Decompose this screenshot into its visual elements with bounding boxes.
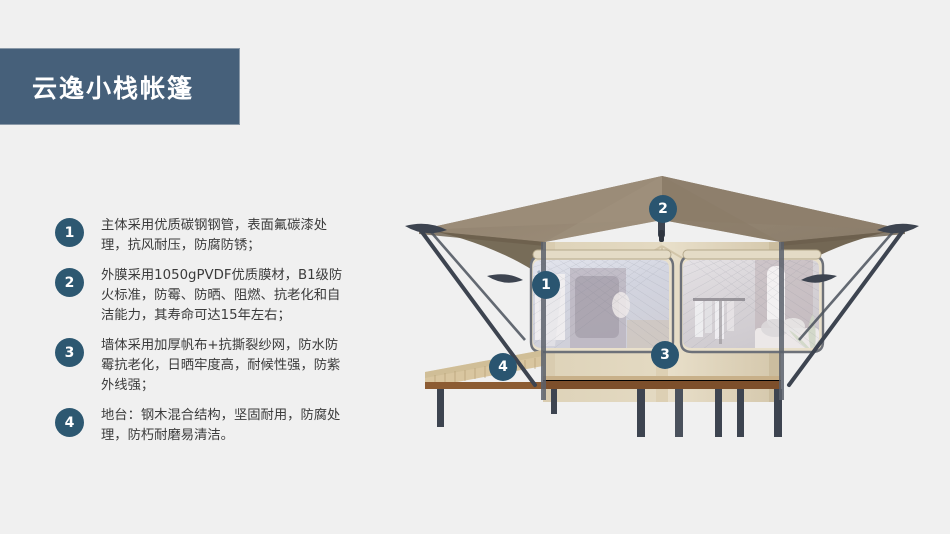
list-item: 3 墙体采用加厚帆布+抗撕裂纱网，防水防霉抗老化，日晒牢度高，耐候性强，防紫外线… — [55, 336, 355, 396]
callout-badge-1: 1 — [532, 271, 560, 299]
list-item: 2 外膜采用1050gPVDF优质膜材，B1级防火标准，防霉、防晒、阻燃、抗老化… — [55, 266, 355, 326]
callout-badge-2: 2 — [649, 195, 677, 223]
slide-canvas: 云逸小栈帐篷 1 主体采用优质碳钢钢管，表面氟碳漆处理，抗风耐压，防腐防锈； 2… — [0, 0, 950, 534]
feature-text-3: 墙体采用加厚帆布+抗撕裂纱网，防水防霉抗老化，日晒牢度高，耐候性强，防紫外线强； — [101, 336, 346, 396]
feature-badge-3: 3 — [55, 338, 84, 367]
feature-badge-2: 2 — [55, 268, 84, 297]
tent-illustration — [375, 150, 950, 440]
page-title: 云逸小栈帐篷 — [32, 69, 194, 105]
feature-text-2: 外膜采用1050gPVDF优质膜材，B1级防火标准，防霉、防晒、阻燃、抗老化和自… — [101, 266, 346, 326]
feature-text-1: 主体采用优质碳钢钢管，表面氟碳漆处理，抗风耐压，防腐防锈； — [101, 216, 346, 256]
feature-badge-1: 1 — [55, 218, 84, 247]
feature-badge-4: 4 — [55, 408, 84, 437]
callout-badge-4: 4 — [489, 353, 517, 381]
feature-text-4: 地台：钢木混合结构，坚固耐用，防腐处理，防朽耐磨易清洁。 — [101, 406, 346, 446]
list-item: 1 主体采用优质碳钢钢管，表面氟碳漆处理，抗风耐压，防腐防锈； — [55, 216, 355, 256]
list-item: 4 地台：钢木混合结构，坚固耐用，防腐处理，防朽耐磨易清洁。 — [55, 406, 355, 446]
callout-badge-3: 3 — [651, 341, 679, 369]
feature-list: 1 主体采用优质碳钢钢管，表面氟碳漆处理，抗风耐压，防腐防锈； 2 外膜采用10… — [55, 216, 355, 456]
title-banner: 云逸小栈帐篷 — [0, 48, 240, 125]
